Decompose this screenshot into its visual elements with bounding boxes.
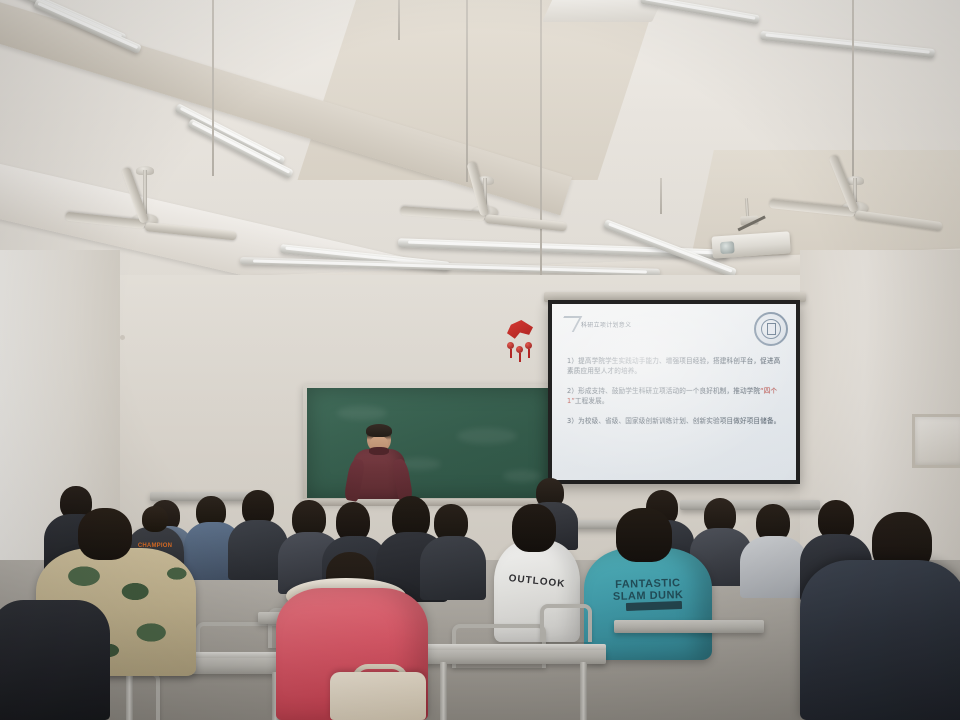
student-head-teal-jacket xyxy=(616,508,672,562)
desk-row-back-right xyxy=(680,500,820,510)
student-body-12 xyxy=(740,536,808,598)
ceiling-fan-left xyxy=(60,170,230,250)
desk-mid-right xyxy=(614,620,764,633)
slide-paragraph-2-post: 工程发展。 xyxy=(575,397,609,405)
student-teal-jacket-label: FANTASTIC SLAM DUNK xyxy=(612,577,685,603)
slide-paragraph-2-pre: 2）形成支持、鼓励学生科研立项活动的一个良好机制，推动学院 xyxy=(567,387,760,395)
ceiling-projector xyxy=(711,225,791,260)
slide-paragraph-1: 1）提高学院学生实践动手能力、增强项目经验，搭建科创平台，促进高素质应用型人才的… xyxy=(567,356,784,376)
desk-leg-1 xyxy=(126,672,133,720)
red-chinese-knot-decoration xyxy=(505,320,535,362)
wall-mounted-panel xyxy=(912,414,960,468)
student-head-camo xyxy=(78,508,132,560)
projection-screen: 科研立项计划意义 1）提高学院学生实践动手能力、增强项目经验，搭建科创平台，促进… xyxy=(548,300,800,484)
student-head-white-hoodie xyxy=(512,504,556,552)
teacher-collar xyxy=(369,447,389,455)
slide-title: 科研立项计划意义 xyxy=(581,320,631,329)
slide-paragraph-1-text: 1）提高学院学生实践动手能力、增强项目经验，搭建科创平台，促进高素质应用型人才的… xyxy=(567,357,780,375)
desk-leg-4 xyxy=(580,662,587,720)
slide-title-block: 科研立项计划意义 xyxy=(560,316,631,332)
fan-wire-center xyxy=(466,0,468,182)
projector-lens xyxy=(720,241,735,254)
fan-wire-left xyxy=(212,0,214,176)
ceiling-fan-right xyxy=(770,178,940,258)
student-left-foreground xyxy=(0,600,110,720)
green-blackboard xyxy=(303,384,555,502)
chair-back-6 xyxy=(540,604,592,642)
student-head-orange-jacket xyxy=(142,506,168,532)
fan-wire-right xyxy=(852,0,854,180)
beige-backpack xyxy=(330,672,426,720)
slide-paragraph-2: 2）形成支持、鼓励学生科研立项活动的一个良好机制，推动学院“四个1”工程发展。 xyxy=(567,386,784,406)
university-emblem-icon xyxy=(754,312,788,346)
ceiling-fan-center xyxy=(400,178,570,258)
chalk-tray xyxy=(300,499,558,506)
wire-right-small xyxy=(660,178,662,214)
presentation-slide: 科研立项计划意义 1）提高学院学生实践动手能力、增强项目经验，搭建科创平台，促进… xyxy=(552,304,796,480)
slide-paragraph-3-text: 3）为校级、省级、国家级创新训练计划、创新实验项目做好项目储备。 xyxy=(567,417,780,425)
classroom-photo: 科研立项计划意义 1）提高学院学生实践动手能力、增强项目经验，搭建科创平台，促进… xyxy=(0,0,960,720)
desk-leg-3 xyxy=(440,662,447,720)
chevron-right-icon xyxy=(556,316,583,332)
blackboard-surface xyxy=(307,388,551,498)
slide-body: 1）提高学院学生实践动手能力、增强项目经验，搭建科创平台，促进高素质应用型人才的… xyxy=(567,356,784,426)
student-body-8 xyxy=(420,536,486,600)
light-wire-center xyxy=(398,0,400,40)
teacher-hair xyxy=(366,424,392,437)
slide-paragraph-3: 3）为校级、省级、国家级创新训练计划、创新实验项目做好项目储备。 xyxy=(567,416,784,426)
student-dark-coat-right xyxy=(800,560,960,720)
